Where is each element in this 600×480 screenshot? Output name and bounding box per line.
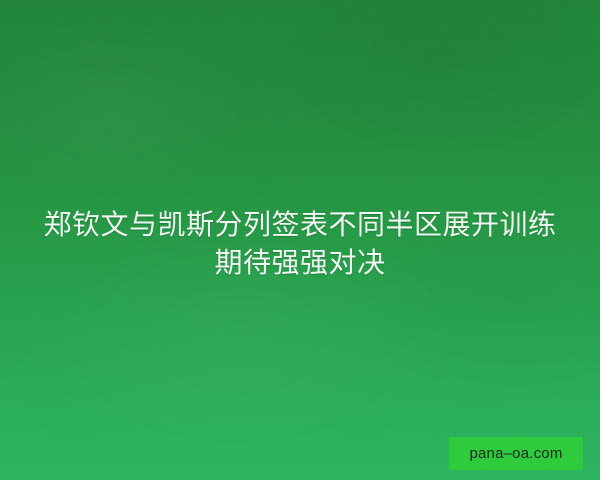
watermark-url-text: pana–oa.com — [469, 446, 562, 461]
poster-headline: 郑钦文与凯斯分列签表不同半区展开训练 期待强强对决 — [0, 206, 600, 282]
poster-canvas: 郑钦文与凯斯分列签表不同半区展开训练 期待强强对决 pana–oa.com — [0, 0, 600, 480]
watermark-badge: pana–oa.com — [449, 437, 583, 470]
